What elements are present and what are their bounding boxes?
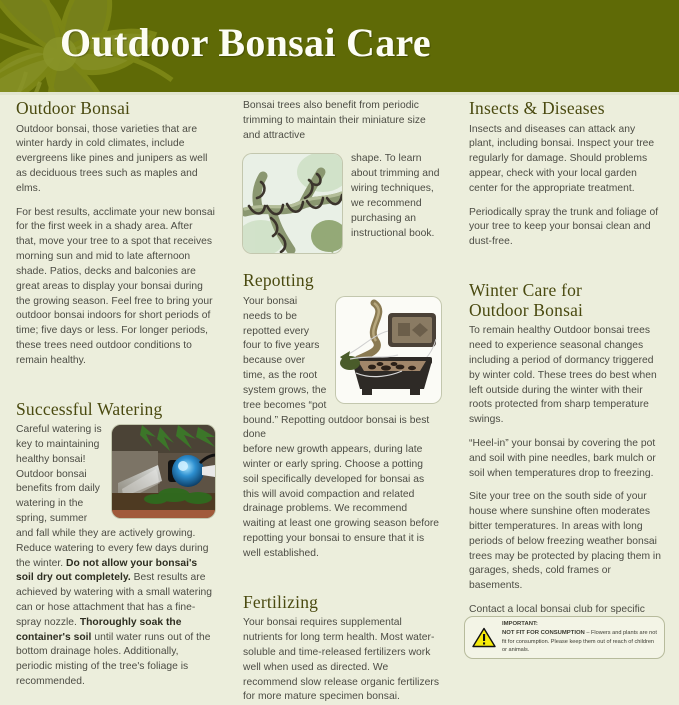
page-header: Outdoor Bonsai Care: [0, 0, 679, 92]
warning-line-1: IMPORTANT:: [502, 620, 657, 629]
paragraph-insects-1: Insects and diseases can attack any plan…: [469, 123, 663, 197]
spacer: [469, 259, 663, 281]
header-divider: [0, 92, 679, 95]
column-2: Bonsai trees also benefit from periodic …: [227, 99, 453, 705]
important-warning-box: IMPORTANT: NOT FIT FOR CONSUMPTION – Flo…: [464, 616, 665, 659]
paragraph-repotting-rest: before new growth appears, during late w…: [243, 443, 441, 562]
page-title: Outdoor Bonsai Care: [60, 19, 431, 66]
paragraph-insects-2: Periodically spray the trunk and foliage…: [469, 206, 663, 250]
spacer: [243, 571, 441, 593]
heading-insects-diseases: Insects & Diseases: [469, 99, 663, 119]
column-3: Insects & Diseases Insects and diseases …: [453, 99, 679, 705]
paragraph-winter-2: “Heel-in” your bonsai by covering the po…: [469, 437, 663, 481]
heading-successful-watering: Successful Watering: [16, 400, 215, 420]
paragraph-winter-1: To remain healthy Outdoor bonsai trees n…: [469, 324, 663, 428]
paragraph-fertilizing-1: Your bonsai requires supplemental nutrie…: [243, 616, 441, 705]
heading-outdoor-bonsai: Outdoor Bonsai: [16, 99, 215, 119]
heading-repotting: Repotting: [243, 271, 441, 291]
poster-page: Outdoor Bonsai Care Outdoor Bonsai Outdo…: [0, 0, 679, 679]
paragraph-outdoor-bonsai-1: Outdoor bonsai, those varieties that are…: [16, 123, 215, 197]
warning-line-2-bold: NOT FIT FOR CONSUMPTION: [502, 630, 585, 636]
warning-text: IMPORTANT: NOT FIT FOR CONSUMPTION – Flo…: [502, 620, 657, 655]
photo-repotting: [336, 297, 441, 403]
warning-triangle-icon: [472, 627, 496, 648]
heading-fertilizing: Fertilizing: [243, 593, 441, 613]
paragraph-outdoor-bonsai-2: For best results, acclimate your new bon…: [16, 206, 215, 369]
winter-care-heading-line2: Outdoor Bonsai: [469, 300, 583, 320]
paragraph-winter-3: Site your tree on the south side of your…: [469, 490, 663, 594]
photo-watering-nozzle: [112, 425, 215, 518]
photo-wired-branch: [243, 154, 342, 253]
spacer: [16, 378, 215, 400]
winter-care-heading-line1: Winter Care for: [469, 280, 582, 300]
heading-winter-care: Winter Care forOutdoor Bonsai: [469, 281, 663, 320]
paragraph-watering-rich: Reduce watering to every few days during…: [16, 542, 215, 690]
content-columns: Outdoor Bonsai Outdoor bonsai, those var…: [0, 99, 679, 705]
paragraph-trimming-lead: Bonsai trees also benefit from periodic …: [243, 99, 441, 143]
column-1: Outdoor Bonsai Outdoor bonsai, those var…: [0, 99, 227, 705]
